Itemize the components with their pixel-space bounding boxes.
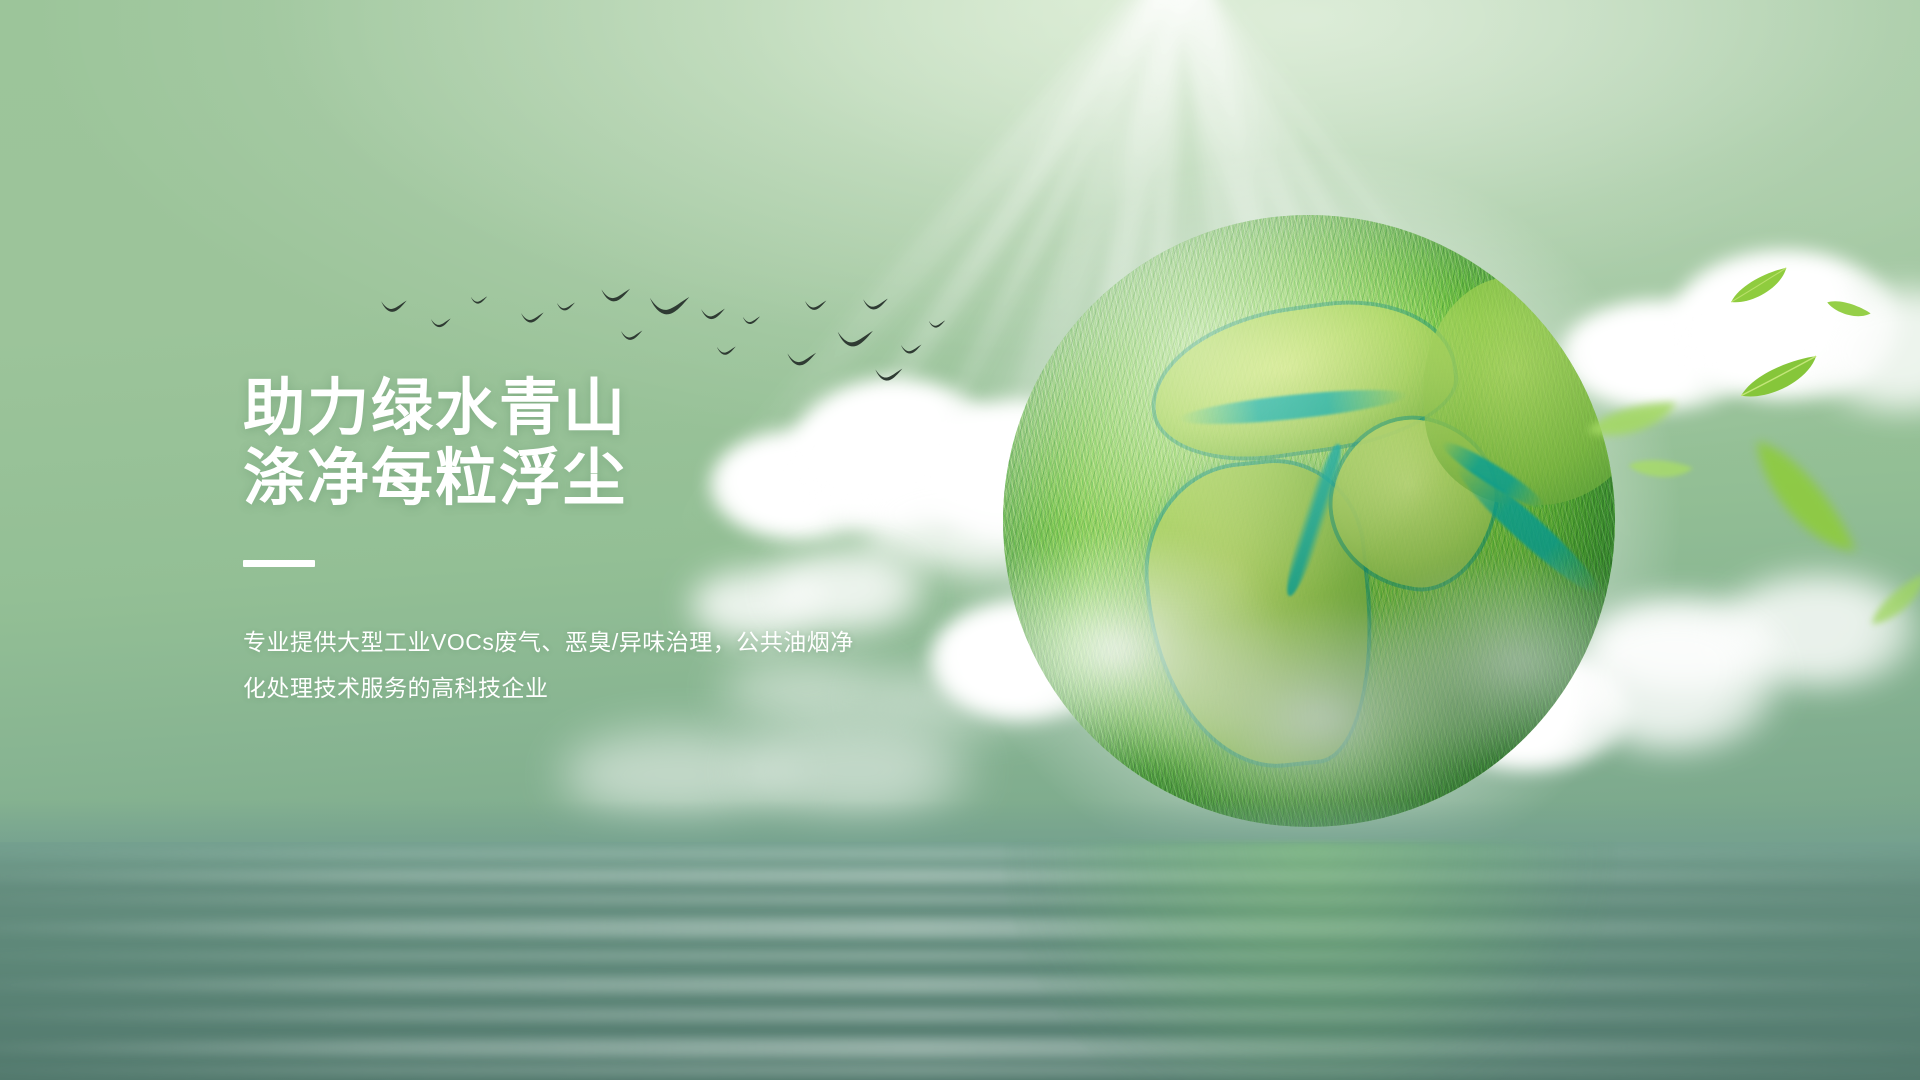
page-title: 助力绿水青山 涤净每粒浮尘 — [243, 374, 1003, 514]
banner-copy: 助力绿水青山 涤净每粒浮尘 专业提供大型工业VOCs废气、恶臭/异味治理，公共油… — [243, 374, 1003, 734]
water-surface — [0, 842, 1920, 1080]
globe-reflection — [1003, 842, 1615, 1080]
earth-globe — [1003, 215, 1615, 827]
subtitle-line-2: 化处理技术服务的高科技企业 — [243, 665, 903, 711]
headline-line-1: 助力绿水青山 — [243, 374, 1003, 444]
hero-banner: 助力绿水青山 涤净每粒浮尘 专业提供大型工业VOCs废气、恶臭/异味治理，公共油… — [0, 0, 1920, 1080]
globe-sphere — [1003, 215, 1615, 827]
title-divider-rule — [243, 560, 315, 567]
headline-line-2: 涤净每粒浮尘 — [243, 444, 1003, 514]
globe-cloud-band — [1003, 533, 1615, 827]
subtitle-line-1: 专业提供大型工业VOCs废气、恶臭/异味治理，公共油烟净 — [243, 619, 903, 665]
banner-subtitle: 专业提供大型工业VOCs废气、恶臭/异味治理，公共油烟净 化处理技术服务的高科技… — [243, 619, 903, 711]
